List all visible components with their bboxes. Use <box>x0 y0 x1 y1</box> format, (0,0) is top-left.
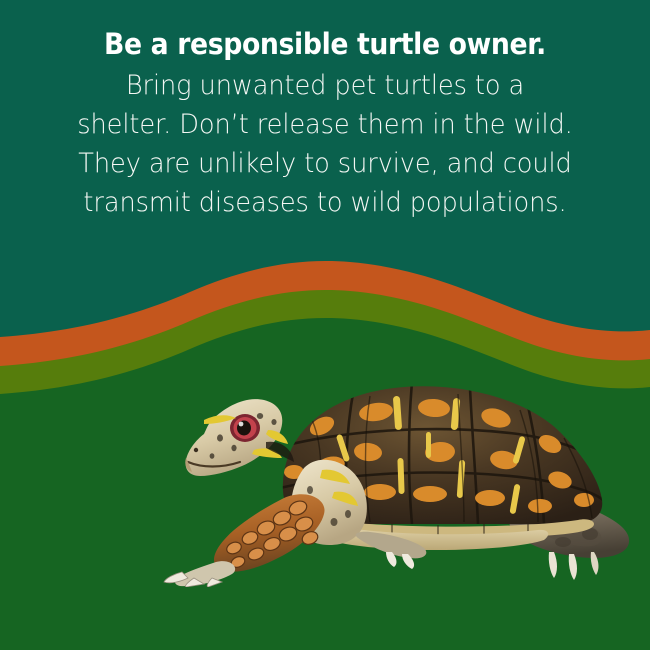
turtle-illustration <box>108 372 638 587</box>
body-line-1: Bring unwanted pet turtles to a <box>16 66 634 105</box>
turtle-front-leg <box>164 494 325 587</box>
turtle-photo: eastern-box-turtle <box>108 372 638 587</box>
page-title: Be a responsible turtle owner. <box>26 26 624 62</box>
body-paragraph: Bring unwanted pet turtles to a shelter.… <box>16 66 634 222</box>
body-line-3: They are unlikely to survive, and could <box>16 144 634 183</box>
message-text-block: Be a responsible turtle owner. Bring unw… <box>0 0 650 222</box>
body-line-2: shelter. Don’t release them in the wild. <box>16 105 634 144</box>
body-line-4: transmit diseases to wild populations. <box>16 183 634 222</box>
turtle-head <box>185 399 294 476</box>
poster-canvas: Be a responsible turtle owner. Bring unw… <box>0 0 650 650</box>
